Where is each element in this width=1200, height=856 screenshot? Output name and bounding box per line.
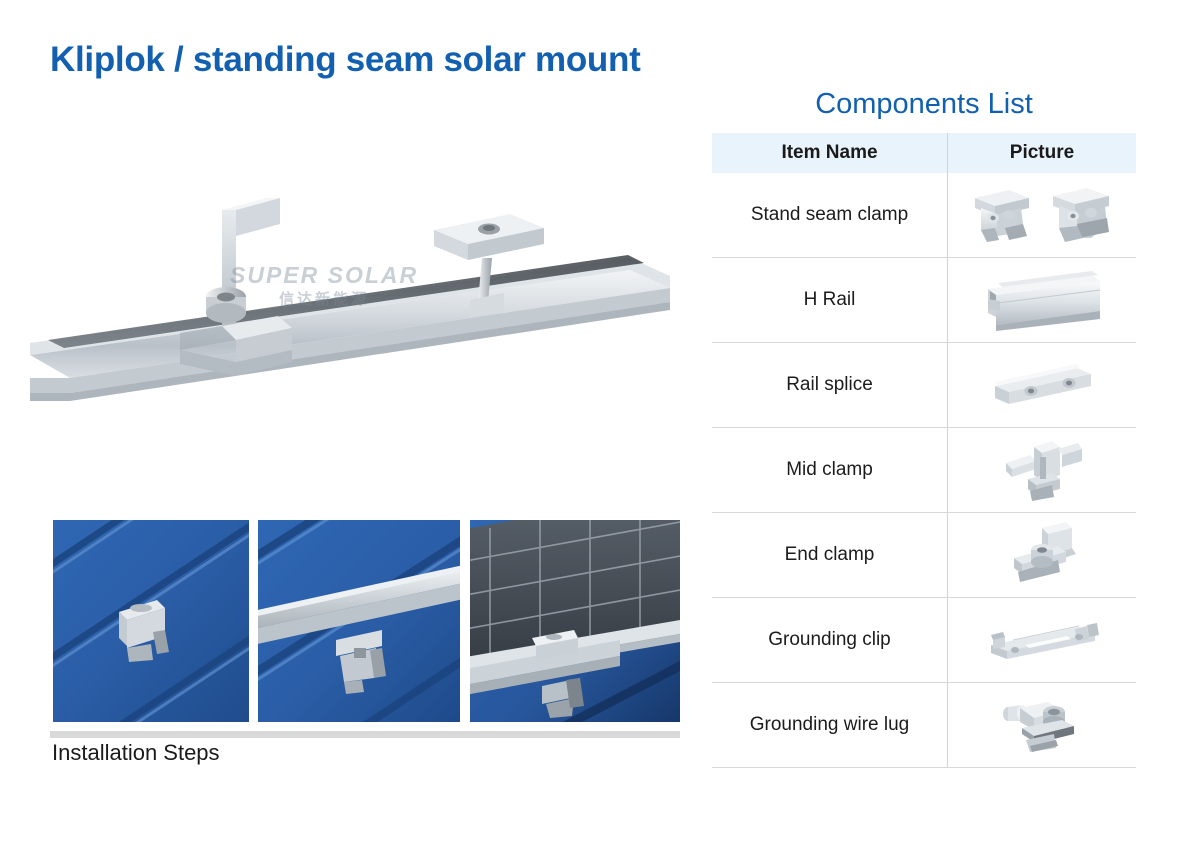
h-rail-svg — [980, 269, 1104, 331]
table-row: H Rail — [712, 258, 1136, 343]
grounding-clip-svg — [983, 615, 1101, 665]
hero-product-render — [30, 150, 690, 450]
table-row: Stand seam clamp — [712, 173, 1136, 258]
installation-photo-3-svg — [470, 520, 680, 722]
table-row: Rail splice — [712, 343, 1136, 428]
column-header-picture: Picture — [948, 133, 1137, 173]
table-row: Grounding wire lug — [712, 683, 1136, 768]
mid-clamp-svg — [1000, 437, 1084, 503]
item-name-stand-seam-clamp: Stand seam clamp — [712, 173, 948, 258]
standing-seam-clamp-b-icon — [1047, 184, 1119, 246]
installation-photo-2 — [258, 520, 460, 722]
end-clamp-icon — [948, 514, 1136, 596]
item-picture-cell — [948, 513, 1137, 598]
rail-splice-plate-icon — [948, 344, 1136, 426]
page-title: Kliplok / standing seam solar mount — [50, 40, 640, 80]
installation-photo-2-svg — [258, 520, 460, 722]
installation-photo-1-svg — [53, 520, 249, 722]
installation-photo-1 — [53, 520, 249, 722]
item-picture-cell — [948, 258, 1137, 343]
table-row: Mid clamp — [712, 428, 1136, 513]
item-picture-cell — [948, 428, 1137, 513]
column-header-item-name: Item Name — [712, 133, 948, 173]
grounding-wire-lug-icon — [948, 684, 1136, 766]
item-picture-cell — [948, 173, 1137, 258]
table-row: Grounding clip — [712, 598, 1136, 683]
item-picture-cell — [948, 598, 1137, 683]
item-name-h-rail: H Rail — [712, 258, 948, 343]
item-name-mid-clamp: Mid clamp — [712, 428, 948, 513]
end-clamp-svg — [1002, 522, 1082, 588]
mid-clamp-icon — [948, 429, 1136, 511]
item-name-grounding-wire-lug: Grounding wire lug — [712, 683, 948, 768]
item-name-end-clamp: End clamp — [712, 513, 948, 598]
grounding-wire-lug-svg — [996, 696, 1088, 754]
item-picture-cell — [948, 683, 1137, 768]
installation-divider — [50, 731, 680, 738]
poster-page: Kliplok / standing seam solar mount — [0, 0, 1200, 856]
standing-seam-clamp-pair-icon — [948, 174, 1136, 256]
rail-splice-svg — [987, 360, 1097, 410]
h-rail-extrusion-icon — [948, 259, 1136, 341]
item-name-grounding-clip: Grounding clip — [712, 598, 948, 683]
installation-caption: Installation Steps — [52, 740, 220, 766]
table-header-row: Item Name Picture — [712, 133, 1136, 173]
standing-seam-clamp-a-icon — [965, 184, 1037, 246]
hero-illustration-svg — [30, 150, 690, 450]
grounding-clip-icon — [948, 599, 1136, 681]
installation-photo-3 — [470, 520, 680, 722]
components-table: Item Name Picture Stand seam clamp — [712, 133, 1136, 768]
item-name-rail-splice: Rail splice — [712, 343, 948, 428]
table-row: End clamp — [712, 513, 1136, 598]
components-list-heading: Components List — [712, 88, 1136, 121]
item-picture-cell — [948, 343, 1137, 428]
